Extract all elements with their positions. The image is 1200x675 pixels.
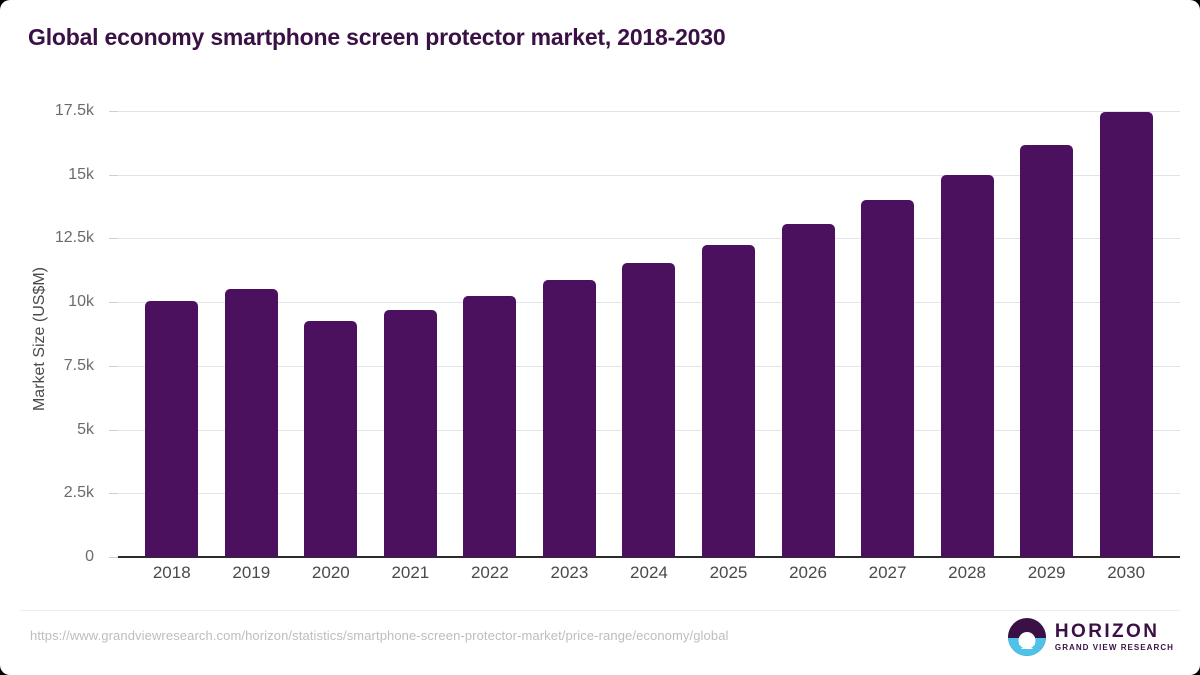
x-tick-label: 2021 (371, 563, 451, 583)
logo-ray-icon (1019, 644, 1035, 646)
x-tick-label: 2022 (450, 563, 530, 583)
x-tick-label: 2024 (609, 563, 689, 583)
horizon-sunrise-icon (1008, 618, 1046, 656)
x-tick-label: 2023 (530, 563, 610, 583)
y-tick-mark (109, 366, 118, 367)
bar[interactable] (702, 245, 755, 557)
bar-column[interactable] (1086, 111, 1166, 557)
y-tick-mark (109, 557, 118, 558)
bar[interactable] (1020, 145, 1073, 557)
bar-column[interactable] (530, 111, 610, 557)
horizon-logo[interactable]: HORIZON GRAND VIEW RESEARCH (1008, 618, 1174, 656)
logo-subtitle: GRAND VIEW RESEARCH (1055, 644, 1174, 652)
bar[interactable] (782, 224, 835, 557)
x-tick-label: 2019 (212, 563, 292, 583)
x-tick-label: 2025 (689, 563, 769, 583)
bar-column[interactable] (609, 111, 689, 557)
bar[interactable] (463, 296, 516, 557)
x-tick-label: 2028 (927, 563, 1007, 583)
bar-series (118, 111, 1180, 557)
bar-column[interactable] (1007, 111, 1087, 557)
y-tick-label: 2.5k (0, 484, 94, 502)
chart-card: Global economy smartphone screen protect… (0, 0, 1200, 675)
y-tick-label: 12.5k (0, 229, 94, 247)
logo-text-block: HORIZON GRAND VIEW RESEARCH (1055, 622, 1174, 652)
y-tick-label: 15k (0, 166, 94, 184)
logo-title: HORIZON (1055, 622, 1174, 641)
bar[interactable] (1100, 112, 1153, 557)
y-tick-label: 0 (0, 548, 94, 566)
bar[interactable] (384, 310, 437, 557)
x-tick-label: 2030 (1086, 563, 1166, 583)
y-tick-label: 17.5k (0, 102, 94, 120)
y-tick-label: 7.5k (0, 357, 94, 375)
bar[interactable] (543, 280, 596, 557)
bar-column[interactable] (291, 111, 371, 557)
x-tick-label: 2018 (132, 563, 212, 583)
y-tick-mark (109, 238, 118, 239)
logo-ray-icon (1021, 648, 1032, 650)
bar-column[interactable] (212, 111, 292, 557)
y-axis-title: Market Size (US$M) (31, 139, 49, 539)
bar-column[interactable] (689, 111, 769, 557)
bar-column[interactable] (848, 111, 928, 557)
source-url[interactable]: https://www.grandviewresearch.com/horizo… (30, 628, 729, 643)
x-tick-label: 2027 (848, 563, 928, 583)
y-tick-mark (109, 302, 118, 303)
logo-sun-shape (1018, 632, 1035, 649)
bar[interactable] (225, 289, 278, 557)
x-axis-labels: 2018201920202021202220232024202520262027… (118, 563, 1180, 583)
y-tick-mark (109, 175, 118, 176)
x-tick-label: 2020 (291, 563, 371, 583)
y-tick-label: 10k (0, 293, 94, 311)
bar[interactable] (861, 200, 914, 557)
x-tick-label: 2029 (1007, 563, 1087, 583)
y-tick-label: 5k (0, 421, 94, 439)
y-tick-mark (109, 493, 118, 494)
bar-column[interactable] (450, 111, 530, 557)
bar-column[interactable] (768, 111, 848, 557)
bar[interactable] (145, 301, 198, 557)
bar-column[interactable] (132, 111, 212, 557)
bar[interactable] (941, 175, 994, 557)
y-tick-mark (109, 430, 118, 431)
bar-column[interactable] (371, 111, 451, 557)
y-tick-mark (109, 111, 118, 112)
x-tick-label: 2026 (768, 563, 848, 583)
footer-divider (20, 610, 1180, 611)
bar[interactable] (622, 263, 675, 557)
bar[interactable] (304, 321, 357, 557)
bar-column[interactable] (927, 111, 1007, 557)
